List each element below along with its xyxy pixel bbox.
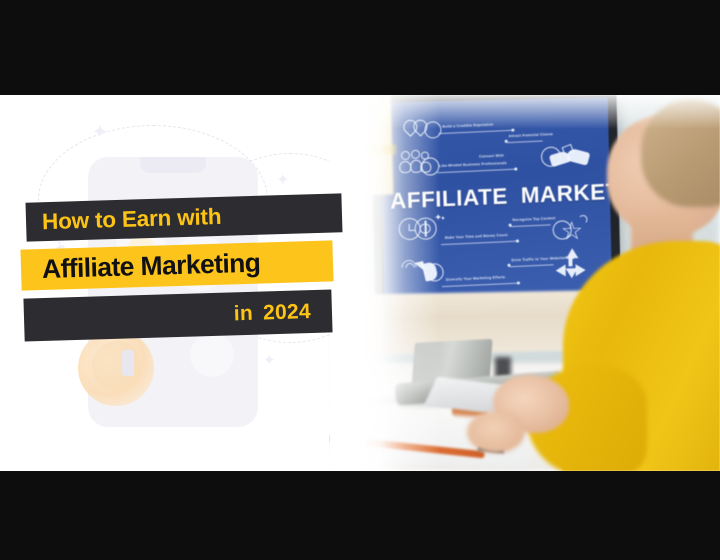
headline-bar-1: How to Earn with [25,193,342,241]
person-hand-second [467,411,525,453]
headline-bar-2: Affiliate Marketing [20,240,333,290]
headline-block: How to Earn with Affiliate Marketing in … [0,95,370,471]
letterbox-bottom [0,471,720,560]
headline-year: 2024 [263,300,312,325]
photo-top-fade [330,95,720,129]
headline-line-3-prefix: in [233,301,253,326]
screen-label: Diversify Your Marketing Efforts [446,275,506,282]
letterbox-top [0,0,720,95]
screen-label: Like-Minded Business Professionals [439,161,507,168]
headline-line-2: Affiliate Marketing [42,248,261,285]
screen-label: Make Your Time and Money Count [445,233,508,240]
headline-bar-3: in 2024 [23,289,332,341]
person [545,123,720,471]
content-band: AFFILIATEMARKETING [0,95,720,471]
headline-line-1: How to Earn with [42,203,222,234]
screen-label: Connect With [479,154,504,159]
banner-stage: AFFILIATEMARKETING [0,0,720,560]
